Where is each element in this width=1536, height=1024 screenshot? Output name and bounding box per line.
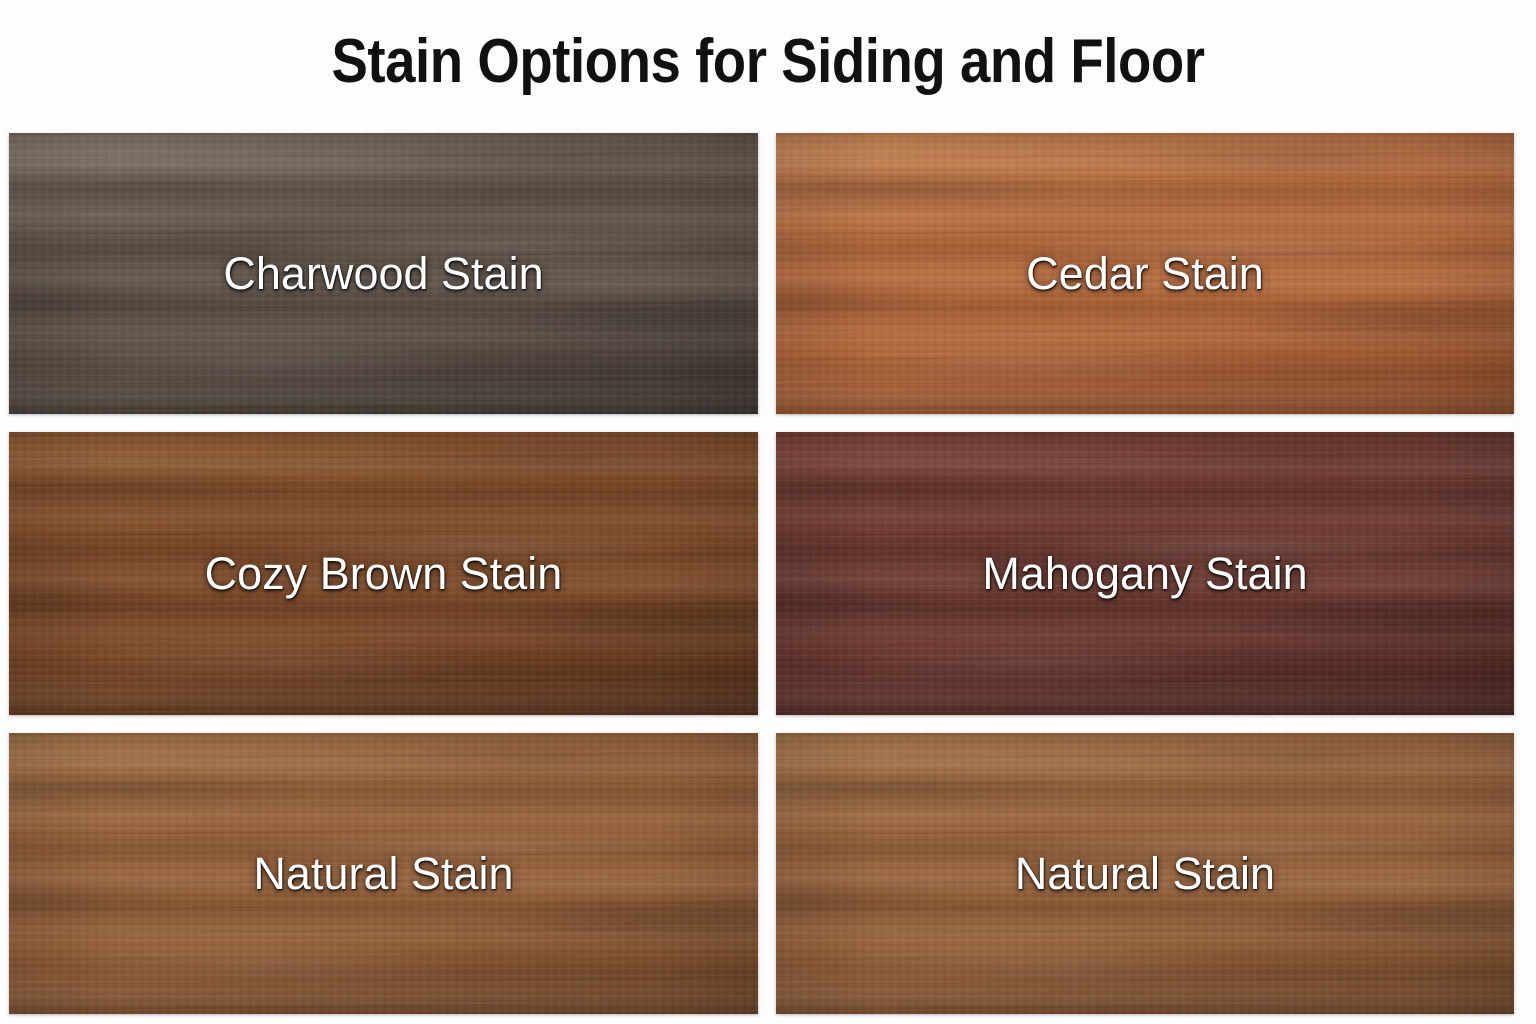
stain-options-board: Stain Options for Siding and Floor Charw… <box>0 0 1536 1024</box>
stain-swatch-label: Cozy Brown Stain <box>9 548 758 600</box>
stain-swatch-label: Charwood Stain <box>9 248 758 300</box>
stain-swatch-cozy-brown[interactable]: Cozy Brown Stain <box>9 432 758 715</box>
stain-swatch-natural-right[interactable]: Natural Stain <box>776 733 1514 1014</box>
stain-swatch-label: Natural Stain <box>9 848 758 900</box>
stain-swatch-cedar[interactable]: Cedar Stain <box>776 133 1514 414</box>
stain-swatch-label: Cedar Stain <box>776 248 1514 300</box>
stain-swatch-label: Mahogany Stain <box>776 548 1514 600</box>
page-title: Stain Options for Siding and Floor <box>92 26 1444 98</box>
stain-swatch-charwood[interactable]: Charwood Stain <box>9 133 758 414</box>
stain-swatch-grid: Charwood Stain Cedar Stain Cozy Brown St… <box>9 133 1514 1014</box>
stain-swatch-natural-left[interactable]: Natural Stain <box>9 733 758 1014</box>
stain-swatch-label: Natural Stain <box>776 848 1514 900</box>
stain-swatch-mahogany[interactable]: Mahogany Stain <box>776 432 1514 715</box>
